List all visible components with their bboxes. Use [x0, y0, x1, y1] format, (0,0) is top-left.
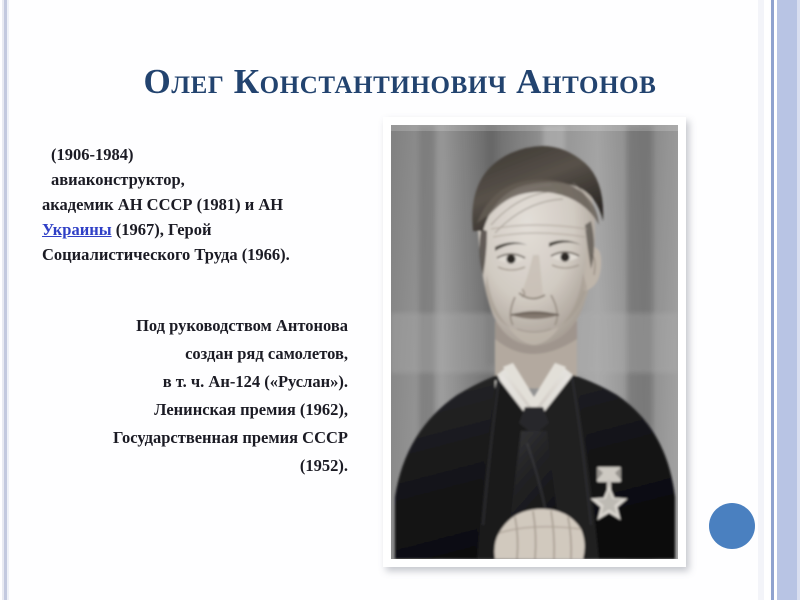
biography-text-block: (1906-1984) авиаконструктор, академик АН…	[42, 142, 362, 267]
page-title: Олег Константинович Антонов	[0, 62, 800, 102]
bio-line-ukraine-rest: (1967), Герой	[112, 220, 212, 239]
achievements-text-block: Под руководством Антонова создан ряд сам…	[40, 312, 348, 480]
bio-line-profession: авиаконструктор,	[42, 167, 362, 192]
bio-line-hero: Социалистического Труда (1966).	[42, 242, 362, 267]
ukraine-link[interactable]: Украины	[42, 220, 112, 239]
bio-line-ukraine: Украины (1967), Герой	[42, 217, 362, 242]
portrait-photo	[391, 125, 678, 559]
achievement-line-1: Под руководством Антонова	[40, 312, 348, 340]
achievement-line-2: создан ряд самолетов,	[40, 340, 348, 368]
achievement-line-6: (1952).	[40, 452, 348, 480]
decorative-circle	[709, 503, 755, 549]
presentation-slide: Олег Константинович Антонов (1906-1984) …	[0, 0, 800, 600]
bio-line-years: (1906-1984)	[42, 142, 362, 167]
achievement-line-4: Ленинская премия (1962),	[40, 396, 348, 424]
portrait-photo-frame	[383, 117, 686, 567]
achievement-line-3: в т. ч. Ан-124 («Руслан»).	[40, 368, 348, 396]
bio-line-academy: академик АН СССР (1981) и АН	[42, 192, 362, 217]
achievement-line-5: Государственная премия СССР	[40, 424, 348, 452]
